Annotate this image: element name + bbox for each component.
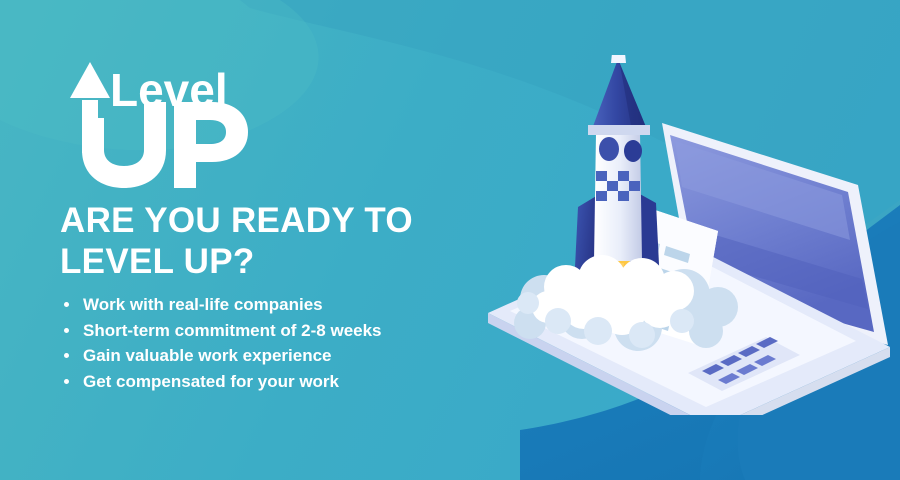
headline-line-1: ARE YOU READY TO — [60, 200, 460, 241]
list-item: Work with real-life companies — [62, 296, 382, 313]
list-item-label: Work with real-life companies — [83, 295, 323, 314]
list-item: Gain valuable work experience — [62, 347, 382, 364]
bullet-dot-icon — [64, 379, 69, 384]
logo-word-level: Level — [110, 64, 228, 116]
benefits-list: Work with real-life companies Short-term… — [62, 296, 382, 398]
headline-line-2: LEVEL UP? — [60, 241, 460, 282]
rocket-window-right — [624, 140, 642, 162]
bullet-dot-icon — [64, 302, 69, 307]
rocket-antenna-base — [611, 55, 626, 63]
bullet-dot-icon — [64, 353, 69, 358]
rocket-laptop-illustration — [470, 55, 900, 415]
list-item: Get compensated for your work — [62, 373, 382, 390]
list-item-label: Gain valuable work experience — [83, 346, 332, 365]
level-up-logo: Level — [58, 58, 258, 188]
rocket-window-left — [599, 137, 619, 161]
list-item-label: Short-term commitment of 2-8 weeks — [83, 321, 382, 340]
bullet-dot-icon — [64, 328, 69, 333]
promo-banner: Level ARE YOU READY TO LEVEL UP? Work wi… — [0, 0, 900, 480]
banner-content: Level ARE YOU READY TO LEVEL UP? Work wi… — [0, 0, 470, 480]
rocket-collar — [588, 125, 650, 135]
list-item: Short-term commitment of 2-8 weeks — [62, 322, 382, 339]
page-title: ARE YOU READY TO LEVEL UP? — [60, 200, 460, 283]
list-item-label: Get compensated for your work — [83, 372, 339, 391]
